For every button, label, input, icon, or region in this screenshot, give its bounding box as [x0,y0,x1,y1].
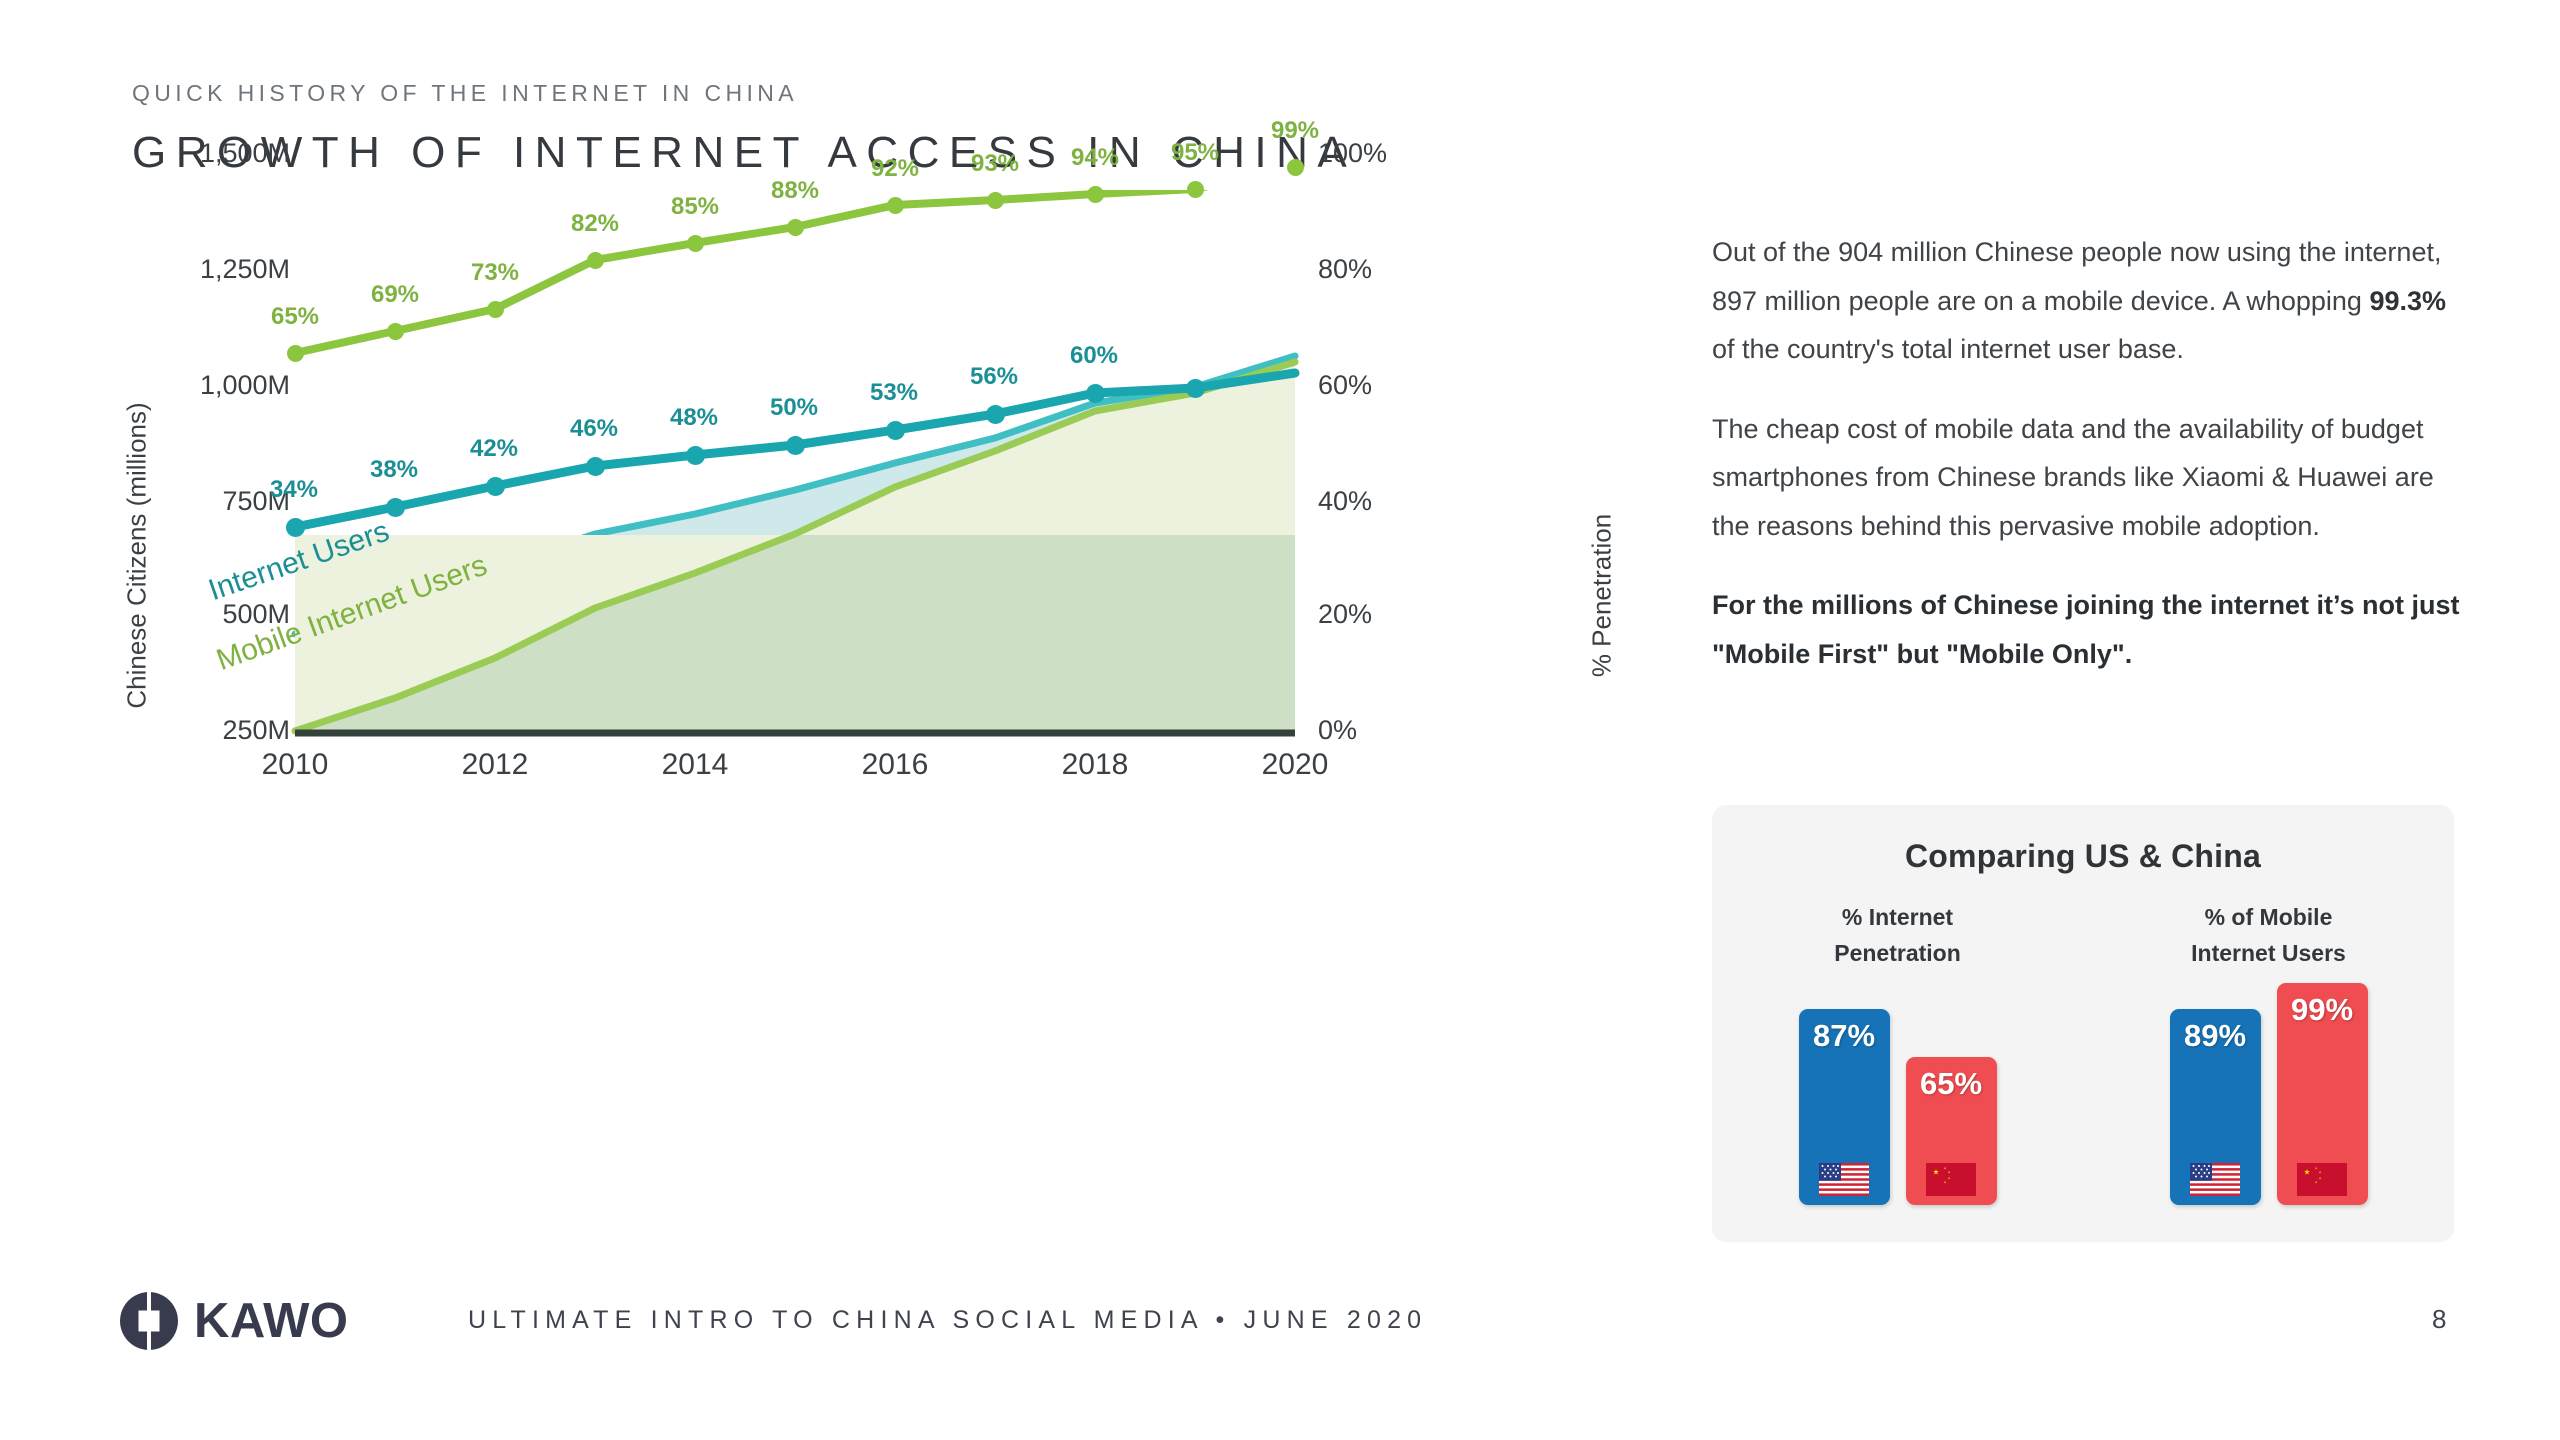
comparison-bar-us: 89% [2170,1009,2261,1205]
slide-header: QUICK HISTORY OF THE INTERNET IN CHINA G… [132,80,1356,178]
us-flag-icon [2190,1163,2240,1196]
comparison-bar-china: 65% [1906,1057,1997,1205]
chart-canvas [110,190,1690,1270]
china-flag-icon [1926,1163,1976,1196]
narrative-column: Out of the 904 million Chinese people no… [1712,228,2472,678]
narrative-paragraph-2: The cheap cost of mobile data and the av… [1712,405,2472,551]
comparison-label-line: % Internet [1834,899,1961,935]
comparison-group-label: % of Mobile Internet Users [2191,899,2346,973]
comparison-bar-value: 99% [2291,992,2353,1028]
comparison-label-line: Penetration [1834,935,1961,971]
kawo-logo: KAWO [118,1290,348,1352]
comparison-group-mobile-internet-users: % of Mobile Internet Users 89% [2083,899,2454,1219]
comparison-bar-value: 87% [1813,1018,1875,1054]
china-flag-icon [2297,1163,2347,1196]
comparison-bar-china: 99% [2277,983,2368,1205]
comparison-bar-us: 87% [1799,1009,1890,1205]
page-title: GROWTH OF INTERNET ACCESS IN CHINA [132,128,1356,178]
comparison-card: Comparing US & China % Internet Penetrat… [1712,805,2454,1242]
comparison-group-internet-penetration: % Internet Penetration 87% [1712,899,2083,1219]
comparison-label-line: % of Mobile [2191,899,2346,935]
us-flag-icon [1819,1163,1869,1196]
slide-footer: KAWO ULTIMATE INTRO TO CHINA SOCIAL MEDI… [0,1290,2560,1370]
kawo-mark-icon [118,1290,180,1352]
comparison-group-label: % Internet Penetration [1834,899,1961,973]
area-mobile-internet-users [295,362,1295,732]
page-number: 8 [2432,1304,2446,1335]
narrative-highlight: 99.3% [2369,286,2446,316]
line-mobile-share [295,190,1295,353]
narrative-paragraph-1: Out of the 904 million Chinese people no… [1712,228,2472,374]
comparison-bar-value: 65% [1920,1066,1982,1102]
growth-chart: Chinese Citizens (millions) % Penetratio… [110,190,1690,1270]
footer-caption: ULTIMATE INTRO TO CHINA SOCIAL MEDIA • J… [468,1306,1427,1335]
comparison-label-line: Internet Users [2191,935,2346,971]
eyebrow-text: QUICK HISTORY OF THE INTERNET IN CHINA [132,80,1356,107]
narrative-paragraph-3: For the millions of Chinese joining the … [1712,581,2472,678]
kawo-wordmark: KAWO [194,1293,348,1349]
comparison-bar-value: 89% [2184,1018,2246,1054]
comparison-title: Comparing US & China [1712,805,2454,875]
